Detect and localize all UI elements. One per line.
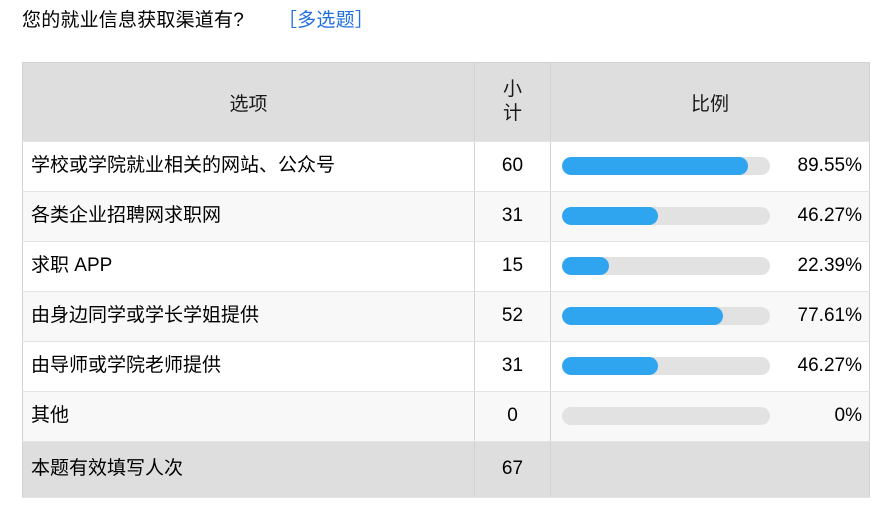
ratio-percent-label: 89.55% (770, 155, 862, 177)
option-label: 其他 (23, 391, 475, 441)
option-ratio: 22.39% (551, 241, 870, 291)
option-label: 求职 APP (23, 241, 475, 291)
table-header: 选项 小计 比例 (23, 63, 870, 142)
ratio-bar-wrapper: 46.27% (562, 355, 862, 377)
option-count: 31 (475, 191, 551, 241)
ratio-bar-wrapper: 89.55% (562, 155, 862, 177)
option-ratio: 89.55% (551, 142, 870, 192)
ratio-percent-label: 22.39% (770, 255, 862, 277)
ratio-bar-track (562, 357, 770, 375)
table-footer: 本题有效填写人次 67 (23, 441, 870, 497)
table-row: 其他 0 0% (23, 391, 870, 441)
option-count: 15 (475, 241, 551, 291)
table-row: 由导师或学院老师提供 31 46.27% (23, 341, 870, 391)
summary-row: 本题有效填写人次 67 (23, 441, 870, 497)
ratio-percent-label: 46.27% (770, 205, 862, 227)
page-title: 您的就业信息获取渠道有? (22, 0, 244, 42)
column-header-count-label: 小计 (503, 78, 522, 126)
ratio-bar-fill (562, 257, 609, 275)
ratio-bar-wrapper: 22.39% (562, 255, 862, 277)
ratio-bar-wrapper: 46.27% (562, 205, 862, 227)
ratio-bar-track (562, 307, 770, 325)
table-row: 由身边同学或学长学姐提供 52 77.61% (23, 291, 870, 341)
table-header-row: 选项 小计 比例 (23, 63, 870, 142)
summary-count: 67 (475, 441, 551, 497)
option-ratio: 0% (551, 391, 870, 441)
option-count: 60 (475, 142, 551, 192)
option-count: 0 (475, 391, 551, 441)
ratio-bar-track (562, 157, 770, 175)
ratio-bar-fill (562, 307, 723, 325)
column-header-ratio: 比例 (551, 63, 870, 142)
table-body: 学校或学院就业相关的网站、公众号 60 89.55% 各类企业招聘网求职网 31 (23, 142, 870, 442)
summary-label: 本题有效填写人次 (23, 441, 475, 497)
ratio-percent-label: 77.61% (770, 305, 862, 327)
column-header-count: 小计 (475, 63, 551, 142)
question-type-badge: ［多选题］ (278, 0, 374, 42)
ratio-percent-label: 0% (770, 405, 862, 427)
ratio-percent-label: 46.27% (770, 355, 862, 377)
table-row: 各类企业招聘网求职网 31 46.27% (23, 191, 870, 241)
ratio-bar-track (562, 257, 770, 275)
ratio-bar-track (562, 207, 770, 225)
ratio-bar-wrapper: 77.61% (562, 305, 862, 327)
ratio-bar-wrapper: 0% (562, 405, 862, 427)
option-label: 由身边同学或学长学姐提供 (23, 291, 475, 341)
option-label: 学校或学院就业相关的网站、公众号 (23, 142, 475, 192)
option-count: 31 (475, 341, 551, 391)
option-ratio: 46.27% (551, 191, 870, 241)
summary-ratio-empty (551, 441, 870, 497)
table-row: 学校或学院就业相关的网站、公众号 60 89.55% (23, 142, 870, 192)
ratio-bar-fill (562, 357, 658, 375)
statistics-table: 选项 小计 比例 学校或学院就业相关的网站、公众号 60 89.55% (22, 62, 870, 498)
column-header-option: 选项 (23, 63, 475, 142)
ratio-bar-track (562, 407, 770, 425)
survey-statistics-page: 您的就业信息获取渠道有? ［多选题］ 选项 小计 比例 学校或学院就业相关的网站… (0, 0, 888, 532)
question-header: 您的就业信息获取渠道有? ［多选题］ (22, 0, 374, 42)
option-label: 各类企业招聘网求职网 (23, 191, 475, 241)
table-row: 求职 APP 15 22.39% (23, 241, 870, 291)
option-label: 由导师或学院老师提供 (23, 341, 475, 391)
ratio-bar-fill (562, 207, 658, 225)
option-count: 52 (475, 291, 551, 341)
option-ratio: 46.27% (551, 341, 870, 391)
option-ratio: 77.61% (551, 291, 870, 341)
ratio-bar-fill (562, 157, 748, 175)
